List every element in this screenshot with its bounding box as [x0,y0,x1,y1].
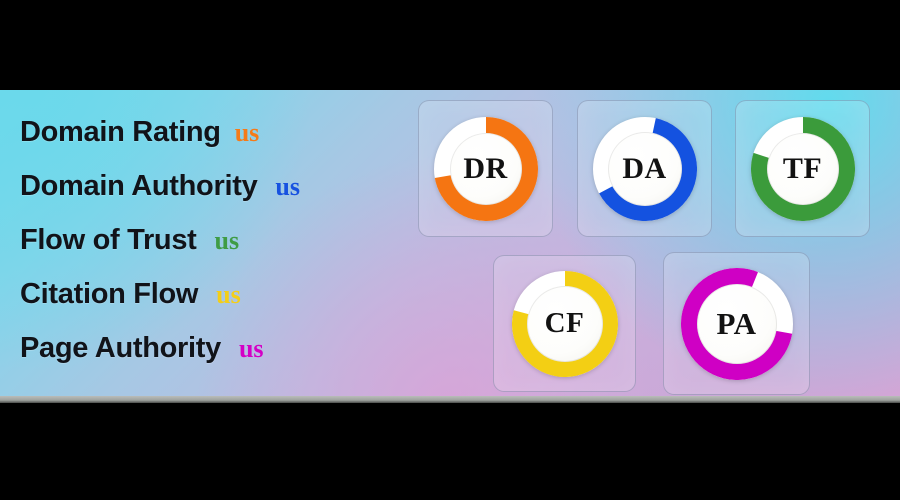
donut-center-da: DA [608,132,682,206]
donut-center-dr: DR [450,133,522,205]
metrics-label-list: Domain Rating us Domain Authority us Flo… [0,90,420,396]
gauge-card-pa[interactable]: PA [663,252,810,395]
gauge-card-dr[interactable]: DR [418,100,553,237]
metric-tag-domain-rating: us [235,118,260,148]
donut-center-pa: PA [697,284,777,364]
donut-label-da: DA [622,154,666,184]
donut-chart-cf: CF [512,271,618,377]
metric-label-domain-rating: Domain Rating [20,116,221,149]
metric-tag-page-authority: us [239,334,264,364]
metric-label-page-authority: Page Authority [20,332,221,365]
metric-tag-flow-of-trust: us [215,226,240,256]
metric-label-citation-flow: Citation Flow [20,278,198,311]
donut-chart-tf: TF [751,117,855,221]
donut-label-dr: DR [463,154,507,184]
list-item: Citation Flow us [20,278,420,332]
letterbox-top [0,0,900,90]
donut-chart-dr: DR [434,117,538,221]
metric-tag-domain-authority: us [275,172,300,202]
donut-label-pa: PA [716,308,756,339]
donut-label-tf: TF [783,154,822,184]
donut-center-cf: CF [527,286,603,362]
donut-label-cf: CF [545,309,585,338]
gauge-card-da[interactable]: DA [577,100,712,237]
donut-chart-pa: PA [681,268,793,380]
list-item: Domain Rating us [20,116,420,170]
metric-label-flow-of-trust: Flow of Trust [20,224,197,257]
list-item: Page Authority us [20,332,420,386]
metric-tag-citation-flow: us [216,280,241,310]
list-item: Flow of Trust us [20,224,420,278]
gauge-card-cf[interactable]: CF [493,255,636,392]
letterbox-bottom [0,403,900,500]
donut-chart-da: DA [593,117,697,221]
gauge-card-tf[interactable]: TF [735,100,870,237]
metric-label-domain-authority: Domain Authority [20,170,257,203]
donut-center-tf: TF [767,133,839,205]
bottom-gray-strip [0,396,900,403]
screenshot-root: Domain Rating us Domain Authority us Flo… [0,0,900,500]
list-item: Domain Authority us [20,170,420,224]
